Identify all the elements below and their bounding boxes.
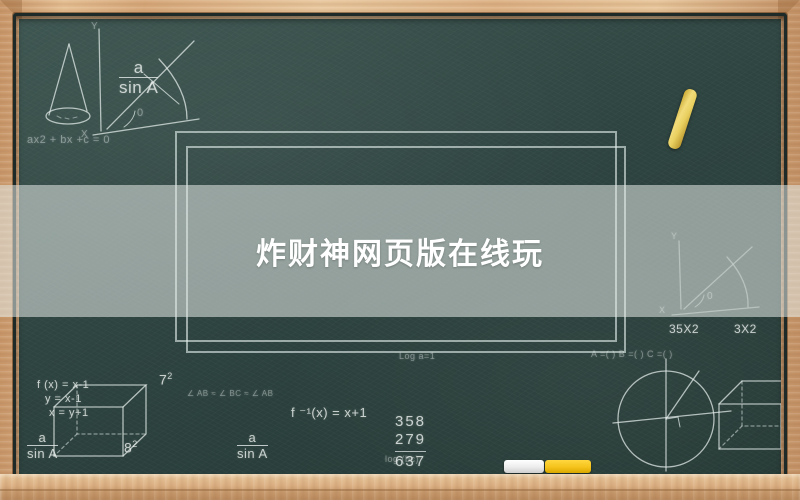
page-title: 炸财神网页版在线玩 — [256, 229, 544, 273]
chalk-tray — [0, 474, 800, 500]
chalkboard-banner-image: asin A ax2 + bx +c = 0 Y X 0 f (x) = x-1… — [0, 0, 800, 500]
tray-groove-line — [0, 489, 800, 491]
title-banner-band: 炸财神网页版在线玩 — [0, 185, 800, 317]
